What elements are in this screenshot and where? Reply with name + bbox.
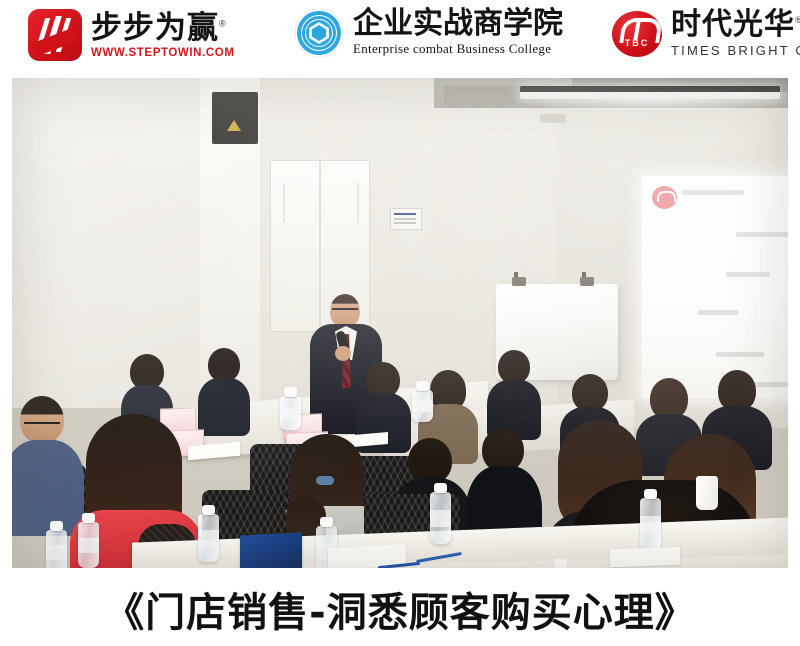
projection-screen (642, 176, 788, 398)
water-bottle (198, 514, 219, 562)
water-bottle (78, 522, 99, 568)
tbc-en-name: TIMES BRIGHT CHINA (671, 43, 800, 58)
wall-speaker-icon (212, 92, 258, 144)
header-logo-bar: 步步为赢® WWW.STEPTOWIN.COM 企业实战商学院 Enterpri… (0, 0, 800, 74)
photo-caption: 《门店销售-洞悉顾客购买心理》 (0, 572, 800, 646)
slide-text-line (736, 232, 788, 237)
water-bottle (640, 498, 661, 550)
presenter-glasses-icon (332, 308, 358, 315)
tbc-cn-text: 时代光华 (671, 8, 795, 41)
name-tent-decorative (240, 532, 302, 568)
water-bottle (46, 530, 67, 568)
photo-scene: 第三组 黄宁靖 (12, 78, 788, 568)
college-seal-icon (295, 9, 343, 57)
slide-text-line (682, 190, 744, 195)
slide-text-line (726, 272, 770, 277)
steptowin-cn-text: 步步为赢 (91, 10, 219, 45)
wall-notice-sign (390, 208, 422, 230)
presenter-hand (335, 346, 351, 361)
steptowin-mark-icon (28, 9, 82, 61)
college-en-name: Enterprise combat Business College (353, 41, 563, 57)
tbc-mark-text: TBC (612, 38, 662, 48)
college-cn-name: 企业实战商学院 (353, 9, 563, 39)
registered-icon-2: ® (795, 15, 800, 25)
slide-text-line (716, 352, 764, 357)
water-bottle (412, 390, 433, 422)
handout-papers (610, 547, 680, 567)
training-session-photo: 第三组 黄宁靖 (12, 78, 788, 568)
logo-business-college: 企业实战商学院 Enterprise combat Business Colle… (295, 9, 563, 57)
steptowin-cn-name: 步步为赢® (91, 12, 235, 43)
water-bottle (430, 492, 451, 544)
steptowin-url: WWW.STEPTOWIN.COM (91, 47, 235, 59)
hair-tie-icon (316, 476, 334, 485)
water-bottle (280, 396, 301, 430)
ceiling-sensor (540, 114, 566, 123)
slide-tbc-logo-icon (652, 186, 677, 209)
registered-icon: ® (219, 18, 227, 28)
logo-steptowin: 步步为赢® WWW.STEPTOWIN.COM (28, 9, 235, 61)
tbc-cn-name: 时代光华® (671, 10, 800, 40)
ceiling-light-icon (520, 86, 780, 99)
audience-glasses-icon (24, 422, 60, 430)
logo-times-bright-china: TBC 时代光华® TIMES BRIGHT CHINA (612, 10, 800, 58)
slide-text-line (698, 310, 738, 315)
wall-left (12, 78, 202, 408)
tbc-mark-icon: TBC (612, 11, 662, 57)
paper-cup (696, 476, 718, 510)
